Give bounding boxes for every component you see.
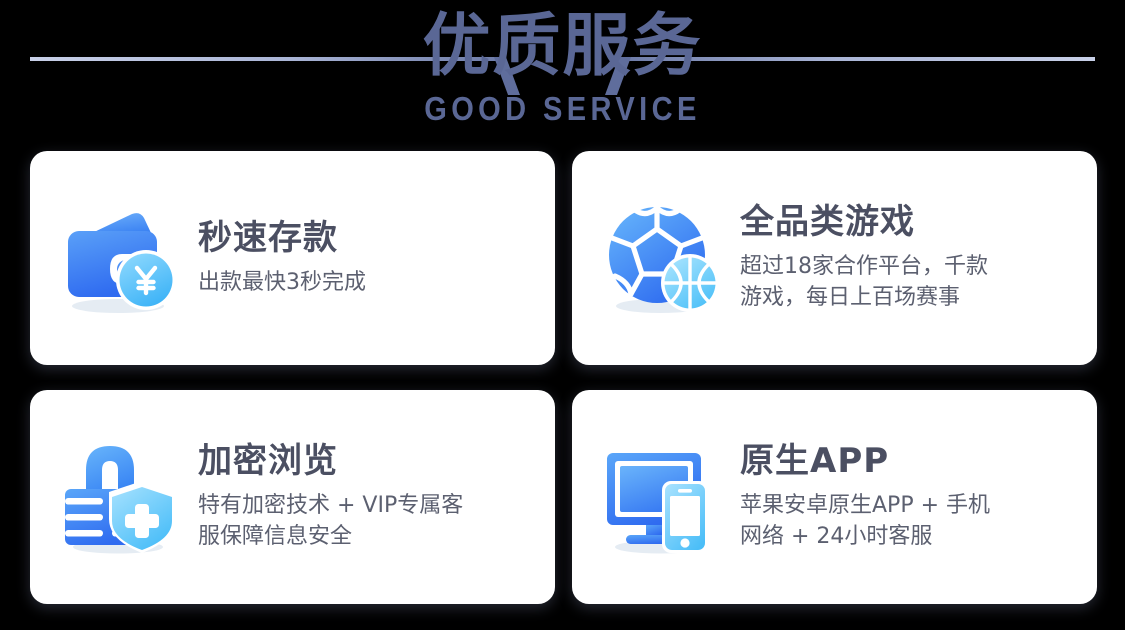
service-card-grid: 秒速存款 出款最快3秒完成 <box>30 151 1097 606</box>
service-card-deposit-text: 秒速存款 出款最快3秒完成 <box>198 218 535 298</box>
service-card-games-desc-line: 超过18家合作平台，千款 <box>740 251 1077 282</box>
soccer-basketball-icon-svg <box>602 198 722 318</box>
page-header: 优质服务 GOOD SERVICE <box>0 0 1125 145</box>
service-card-encryption-desc-line: 特有加密技术 + VIP专属客 <box>198 490 535 521</box>
wallet-yen-icon <box>60 198 180 318</box>
service-card-deposit-desc-line: 出款最快3秒完成 <box>198 267 535 298</box>
service-card-deposit-title: 秒速存款 <box>198 218 535 259</box>
service-card-encryption[interactable]: 加密浏览 特有加密技术 + VIP专属客 服保障信息安全 <box>30 390 555 604</box>
service-card-encryption-title: 加密浏览 <box>198 441 535 482</box>
service-card-games-desc-line: 游戏，每日上百场赛事 <box>740 282 1077 313</box>
service-card-native-app-desc-line: 苹果安卓原生APP + 手机 <box>740 490 1077 521</box>
service-card-games[interactable]: 全品类游戏 超过18家合作平台，千款 游戏，每日上百场赛事 <box>572 151 1097 365</box>
service-card-games-desc: 超过18家合作平台，千款 游戏，每日上百场赛事 <box>740 251 1077 313</box>
soccer-basketball-icon <box>602 198 722 318</box>
service-card-native-app-desc-line: 网络 + 24小时客服 <box>740 521 1077 552</box>
monitor-phone-icon-svg <box>602 437 722 557</box>
monitor-phone-icon <box>602 437 722 557</box>
page-subtitle: GOOD SERVICE <box>68 90 1058 128</box>
service-card-deposit[interactable]: 秒速存款 出款最快3秒完成 <box>30 151 555 365</box>
service-card-encryption-desc: 特有加密技术 + VIP专属客 服保障信息安全 <box>198 490 535 552</box>
service-card-native-app[interactable]: 原生APP 苹果安卓原生APP + 手机 网络 + 24小时客服 <box>572 390 1097 604</box>
lock-shield-icon <box>60 437 180 557</box>
service-card-games-title: 全品类游戏 <box>740 202 1077 243</box>
wallet-yen-icon-svg <box>60 198 180 318</box>
lock-shield-icon-svg <box>60 437 180 557</box>
service-card-native-app-title: 原生APP <box>740 441 1077 482</box>
title-group: 优质服务 GOOD SERVICE <box>0 0 1125 128</box>
service-card-encryption-desc-line: 服保障信息安全 <box>198 521 535 552</box>
service-card-games-text: 全品类游戏 超过18家合作平台，千款 游戏，每日上百场赛事 <box>740 202 1077 313</box>
service-card-native-app-desc: 苹果安卓原生APP + 手机 网络 + 24小时客服 <box>740 490 1077 552</box>
service-card-deposit-desc: 出款最快3秒完成 <box>198 267 535 298</box>
service-card-native-app-text: 原生APP 苹果安卓原生APP + 手机 网络 + 24小时客服 <box>740 441 1077 552</box>
page-title: 优质服务 <box>0 8 1125 86</box>
service-card-encryption-text: 加密浏览 特有加密技术 + VIP专属客 服保障信息安全 <box>198 441 535 552</box>
